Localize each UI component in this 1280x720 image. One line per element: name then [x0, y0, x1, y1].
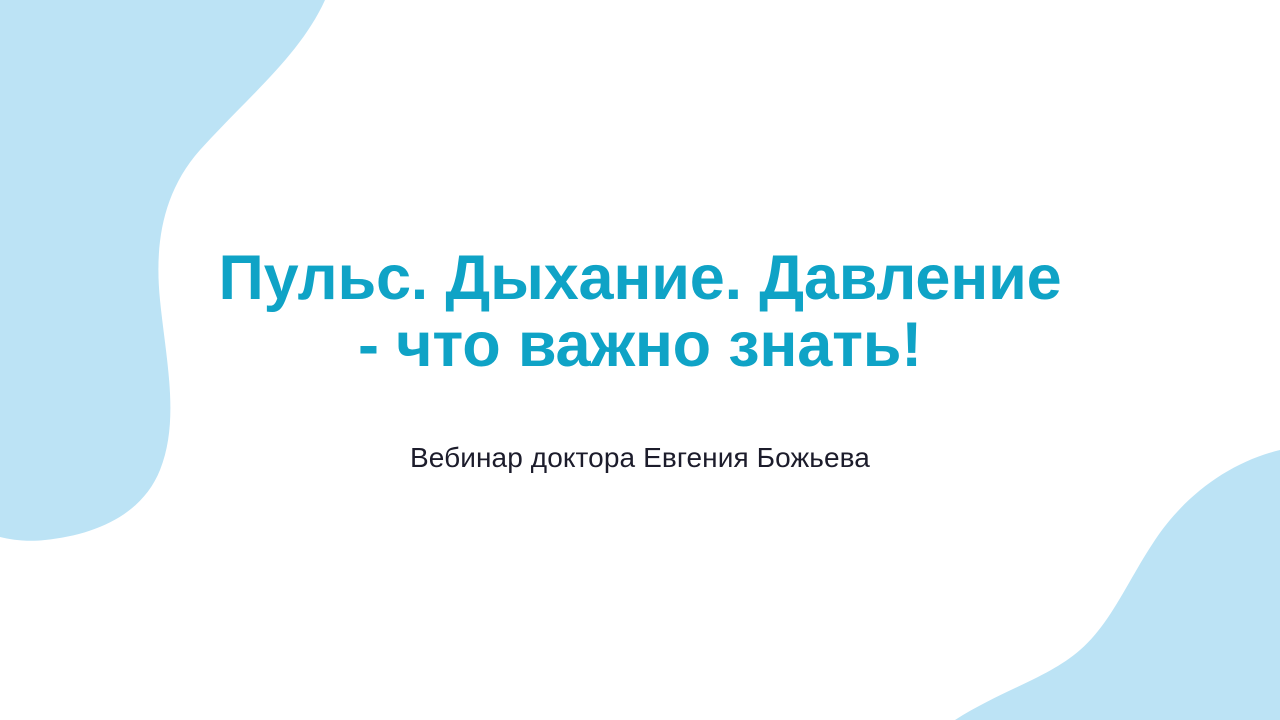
- slide-content: Пульс. Дыхание. Давление - что важно зна…: [0, 0, 1280, 720]
- slide-subtitle: Вебинар доктора Евгения Божьева: [90, 441, 1190, 475]
- slide-title: Пульс. Дыхание. Давление - что важно зна…: [90, 245, 1190, 379]
- title-slide: Пульс. Дыхание. Давление - что важно зна…: [0, 0, 1280, 720]
